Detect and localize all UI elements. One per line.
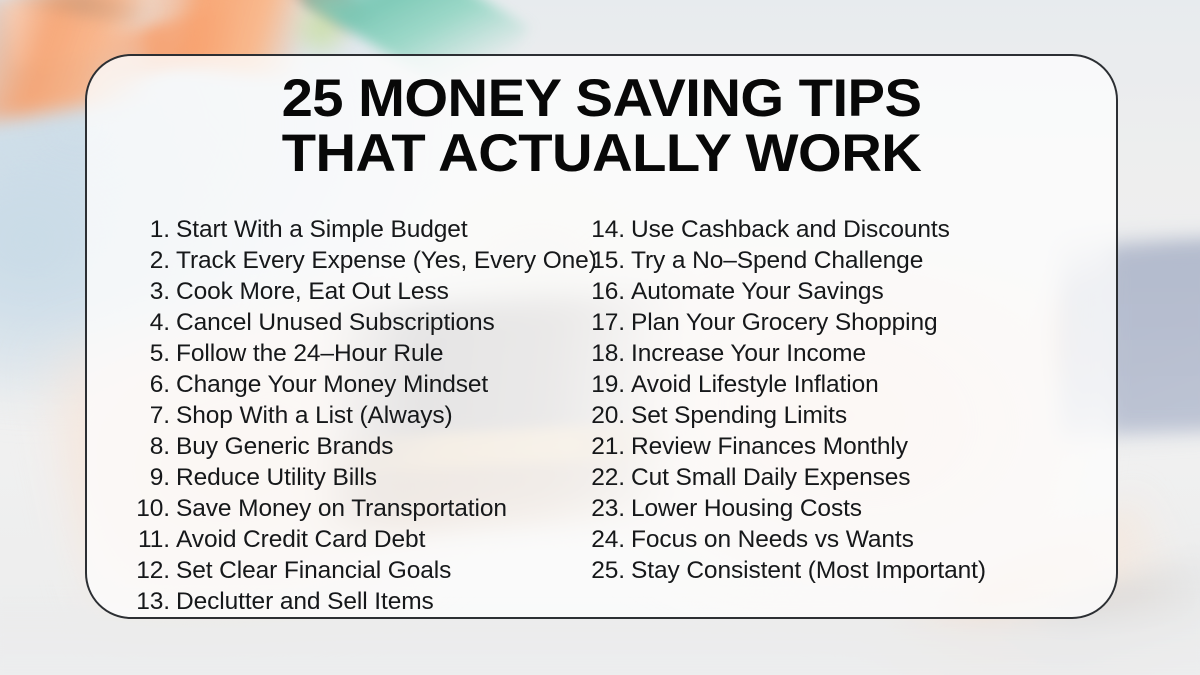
- list-item-number: 10.: [132, 493, 170, 524]
- list-item-number: 24.: [587, 524, 625, 555]
- list-item-number: 5.: [132, 338, 170, 369]
- list-item-number: 7.: [132, 400, 170, 431]
- tips-list-left: 1.Start With a Simple Budget 2.Track Eve…: [132, 214, 587, 617]
- list-item-number: 16.: [587, 276, 625, 307]
- list-item: 18.Increase Your Income: [587, 338, 1087, 369]
- list-item: 17.Plan Your Grocery Shopping: [587, 307, 1087, 338]
- list-item: 4.Cancel Unused Subscriptions: [132, 307, 587, 338]
- list-item-number: 9.: [132, 462, 170, 493]
- list-item-number: 2.: [132, 245, 170, 276]
- list-item-label: Avoid Lifestyle Inflation: [631, 369, 879, 400]
- list-item-number: 17.: [587, 307, 625, 338]
- list-item-number: 8.: [132, 431, 170, 462]
- list-item: 12.Set Clear Financial Goals: [132, 555, 587, 586]
- list-item-label: Track Every Expense (Yes, Every One): [176, 245, 597, 276]
- list-item: 23.Lower Housing Costs: [587, 493, 1087, 524]
- right-column: 14.Use Cashback and Discounts 15.Try a N…: [587, 214, 1087, 617]
- list-item-number: 3.: [132, 276, 170, 307]
- list-item-number: 19.: [587, 369, 625, 400]
- list-item: 9.Reduce Utility Bills: [132, 462, 587, 493]
- list-item-label: Change Your Money Mindset: [176, 369, 488, 400]
- list-item-number: 22.: [587, 462, 625, 493]
- list-item-label: Set Clear Financial Goals: [176, 555, 451, 586]
- list-item-label: Cook More, Eat Out Less: [176, 276, 449, 307]
- list-item-number: 23.: [587, 493, 625, 524]
- list-item: 13.Declutter and Sell Items: [132, 586, 587, 617]
- list-item-label: Review Finances Monthly: [631, 431, 908, 462]
- list-item-label: Start With a Simple Budget: [176, 214, 468, 245]
- page-title: 25 MONEY SAVING TIPS THAT ACTUALLY WORK: [85, 71, 1118, 181]
- list-item: 3.Cook More, Eat Out Less: [132, 276, 587, 307]
- list-item: 1.Start With a Simple Budget: [132, 214, 587, 245]
- list-item-label: Stay Consistent (Most Important): [631, 555, 986, 586]
- list-item: 16.Automate Your Savings: [587, 276, 1087, 307]
- title-line-1: 25 MONEY SAVING TIPS: [85, 71, 1118, 126]
- list-item: 25.Stay Consistent (Most Important): [587, 555, 1087, 586]
- list-item: 24.Focus on Needs vs Wants: [587, 524, 1087, 555]
- list-item-number: 18.: [587, 338, 625, 369]
- list-item: 5.Follow the 24–Hour Rule: [132, 338, 587, 369]
- poster-canvas: 25 MONEY SAVING TIPS THAT ACTUALLY WORK …: [0, 0, 1200, 675]
- list-item: 20.Set Spending Limits: [587, 400, 1087, 431]
- list-item: 11.Avoid Credit Card Debt: [132, 524, 587, 555]
- list-item: 21.Review Finances Monthly: [587, 431, 1087, 462]
- list-item-number: 11.: [132, 524, 170, 555]
- list-item-label: Follow the 24–Hour Rule: [176, 338, 443, 369]
- tips-list-right: 14.Use Cashback and Discounts 15.Try a N…: [587, 214, 1087, 586]
- list-item-number: 20.: [587, 400, 625, 431]
- list-item: 2.Track Every Expense (Yes, Every One): [132, 245, 587, 276]
- left-column: 1.Start With a Simple Budget 2.Track Eve…: [87, 214, 587, 617]
- list-item-label: Save Money on Transportation: [176, 493, 507, 524]
- list-item: 14.Use Cashback and Discounts: [587, 214, 1087, 245]
- list-item: 6.Change Your Money Mindset: [132, 369, 587, 400]
- list-item-number: 15.: [587, 245, 625, 276]
- list-item-label: Focus on Needs vs Wants: [631, 524, 914, 555]
- list-item-number: 25.: [587, 555, 625, 586]
- list-item-number: 21.: [587, 431, 625, 462]
- list-item-number: 13.: [132, 586, 170, 617]
- list-item: 19.Avoid Lifestyle Inflation: [587, 369, 1087, 400]
- list-item-label: Cancel Unused Subscriptions: [176, 307, 495, 338]
- tips-columns: 1.Start With a Simple Budget 2.Track Eve…: [87, 214, 1116, 617]
- list-item-number: 6.: [132, 369, 170, 400]
- list-item-number: 1.: [132, 214, 170, 245]
- list-item-number: 12.: [132, 555, 170, 586]
- content-card: 25 MONEY SAVING TIPS THAT ACTUALLY WORK …: [85, 54, 1118, 619]
- title-line-2: THAT ACTUALLY WORK: [85, 126, 1118, 181]
- list-item-label: Set Spending Limits: [631, 400, 847, 431]
- list-item-number: 4.: [132, 307, 170, 338]
- list-item: 7.Shop With a List (Always): [132, 400, 587, 431]
- list-item-label: Automate Your Savings: [631, 276, 884, 307]
- list-item-label: Try a No–Spend Challenge: [631, 245, 923, 276]
- list-item: 22.Cut Small Daily Expenses: [587, 462, 1087, 493]
- list-item-label: Lower Housing Costs: [631, 493, 862, 524]
- list-item-label: Reduce Utility Bills: [176, 462, 377, 493]
- list-item-label: Buy Generic Brands: [176, 431, 393, 462]
- list-item-number: 14.: [587, 214, 625, 245]
- list-item-label: Cut Small Daily Expenses: [631, 462, 910, 493]
- list-item-label: Declutter and Sell Items: [176, 586, 434, 617]
- list-item-label: Shop With a List (Always): [176, 400, 453, 431]
- list-item: 8.Buy Generic Brands: [132, 431, 587, 462]
- list-item-label: Plan Your Grocery Shopping: [631, 307, 938, 338]
- list-item-label: Use Cashback and Discounts: [631, 214, 950, 245]
- list-item: 15.Try a No–Spend Challenge: [587, 245, 1087, 276]
- list-item-label: Avoid Credit Card Debt: [176, 524, 425, 555]
- list-item-label: Increase Your Income: [631, 338, 866, 369]
- list-item: 10.Save Money on Transportation: [132, 493, 587, 524]
